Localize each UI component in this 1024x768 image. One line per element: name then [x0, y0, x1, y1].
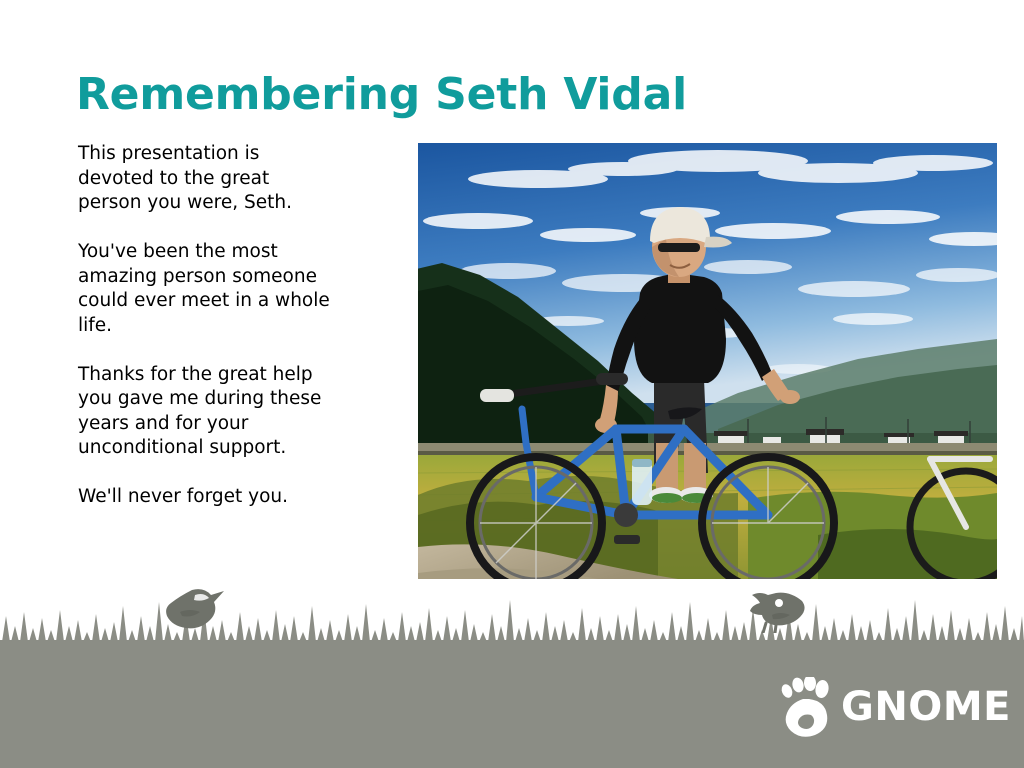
grass-icon: [0, 596, 1024, 654]
grass-silhouette: [0, 596, 1024, 654]
bird-right-icon: [746, 589, 808, 633]
slide-body-text: This presentation is devoted to the grea…: [78, 142, 390, 510]
gnome-foot-icon: [779, 677, 831, 737]
bird-silhouette-icon: [746, 589, 808, 633]
slide-photo: [418, 143, 997, 579]
footprint-icon: [779, 677, 831, 737]
body-paragraph-4: We'll never forget you.: [78, 485, 390, 510]
photo-illustration: [418, 143, 997, 579]
slide-title: Remembering Seth Vidal: [76, 72, 956, 118]
bird-left-icon: [162, 586, 226, 632]
gnome-wordmark: GNOME: [841, 687, 1011, 727]
gnome-logo: GNOME: [779, 676, 969, 738]
body-paragraph-3: Thanks for the great help you gave me du…: [78, 363, 390, 461]
bird-silhouette-icon: [162, 586, 226, 632]
presentation-slide: Remembering Seth Vidal This presentation…: [0, 0, 1024, 768]
body-paragraph-1: This presentation is devoted to the grea…: [78, 142, 390, 216]
body-paragraph-2: You've been the most amazing person some…: [78, 240, 390, 338]
